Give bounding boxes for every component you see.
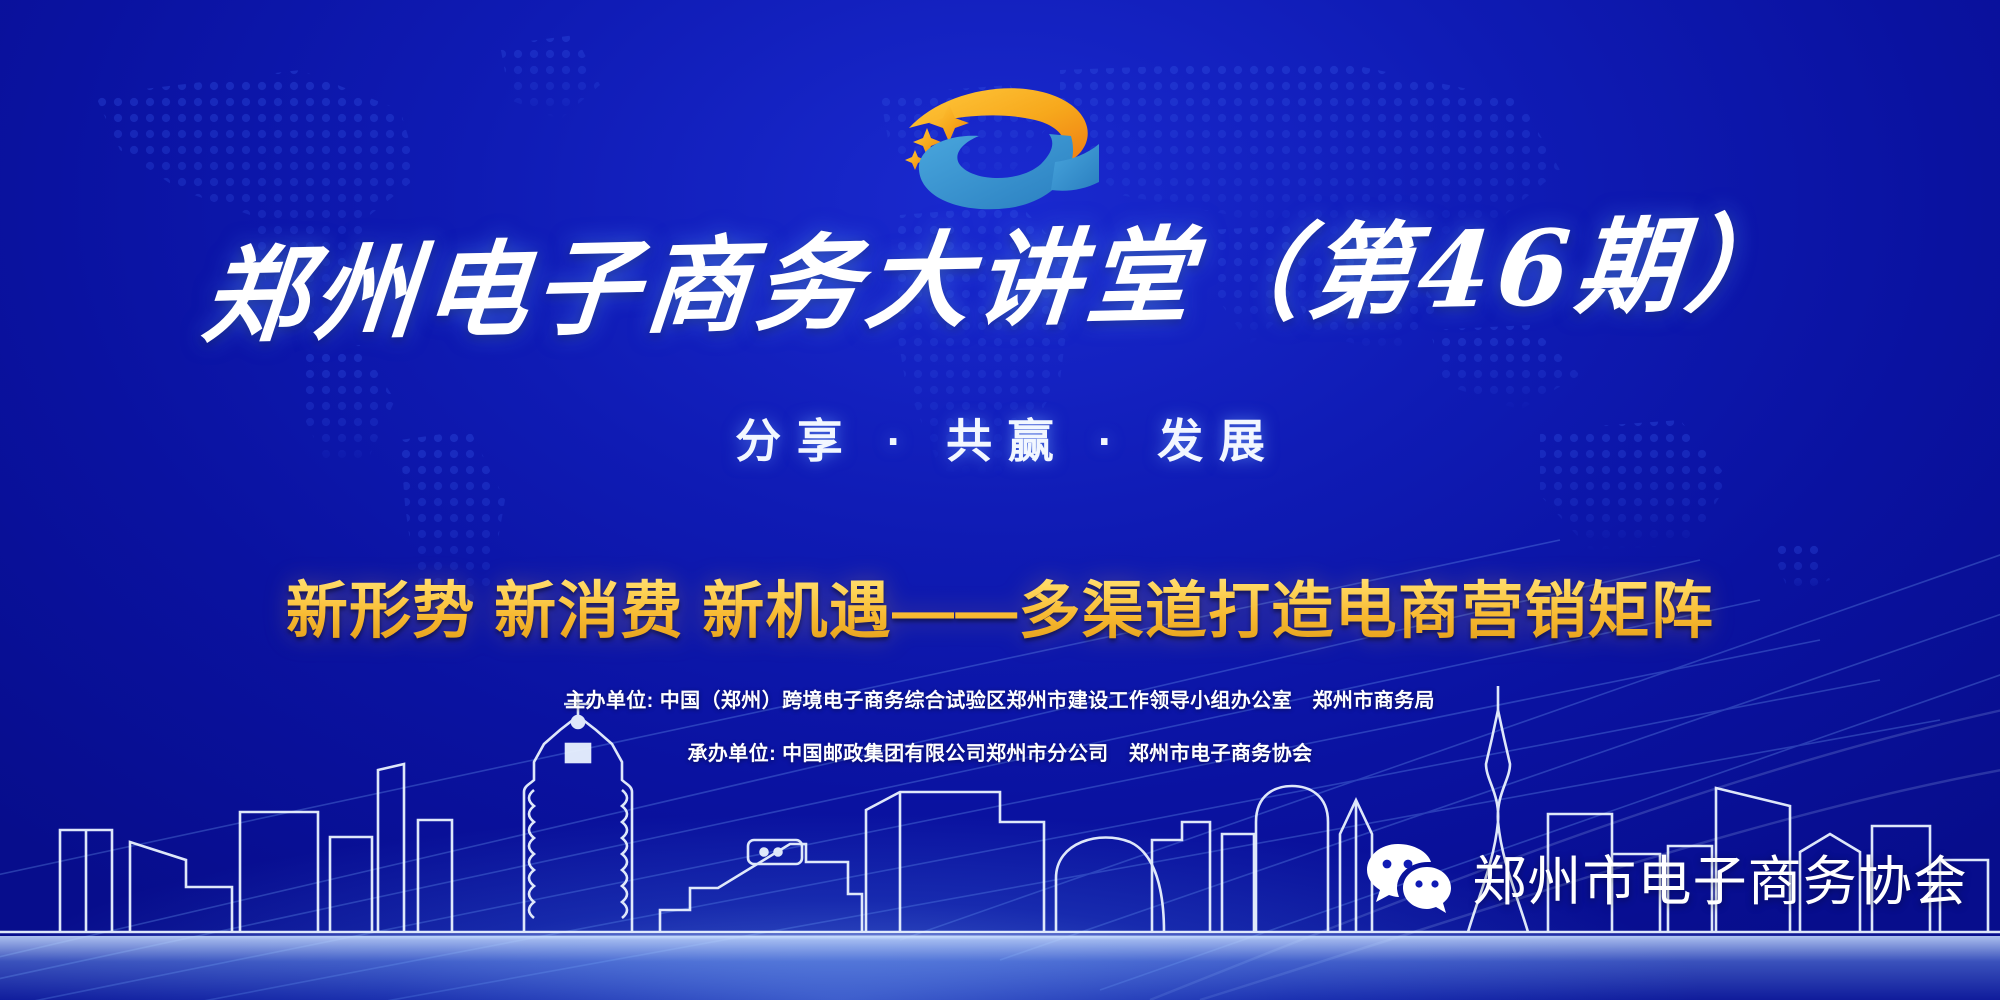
title-subtitle: 分享 · 共赢 · 发展 — [0, 405, 2000, 471]
floor-reflection — [0, 936, 2000, 1000]
organizer-block: 主办单位: 中国（郑州）跨境电子商务综合试验区郑州市建设工作领导小组办公室 郑州… — [0, 684, 2000, 790]
page-title: 郑州电子商务大讲堂（第46期） — [0, 207, 2000, 353]
event-poster: 郑州电子商务大讲堂（第46期） 分享 · 共赢 · 发展 新形势 新消费 新机遇… — [0, 0, 2000, 1000]
wechat-account-name: 郑州市电子商务协会 — [1472, 837, 1968, 916]
wechat-account-badge[interactable]: 郑州市电子商务协会 — [1366, 837, 1968, 916]
wechat-icon — [1366, 840, 1452, 914]
session-headline: 新形势 新消费 新机遇——多渠道打造电商营销矩阵 — [0, 560, 2000, 650]
cross-border-ecommerce-logo-icon — [875, 78, 1125, 218]
organizer-host-line: 主办单位: 中国（郑州）跨境电子商务综合试验区郑州市建设工作领导小组办公室 郑州… — [0, 684, 2000, 713]
organizer-coordinator-line: 承办单位: 中国邮政集团有限公司郑州市分公司 郑州市电子商务协会 — [0, 737, 2000, 766]
